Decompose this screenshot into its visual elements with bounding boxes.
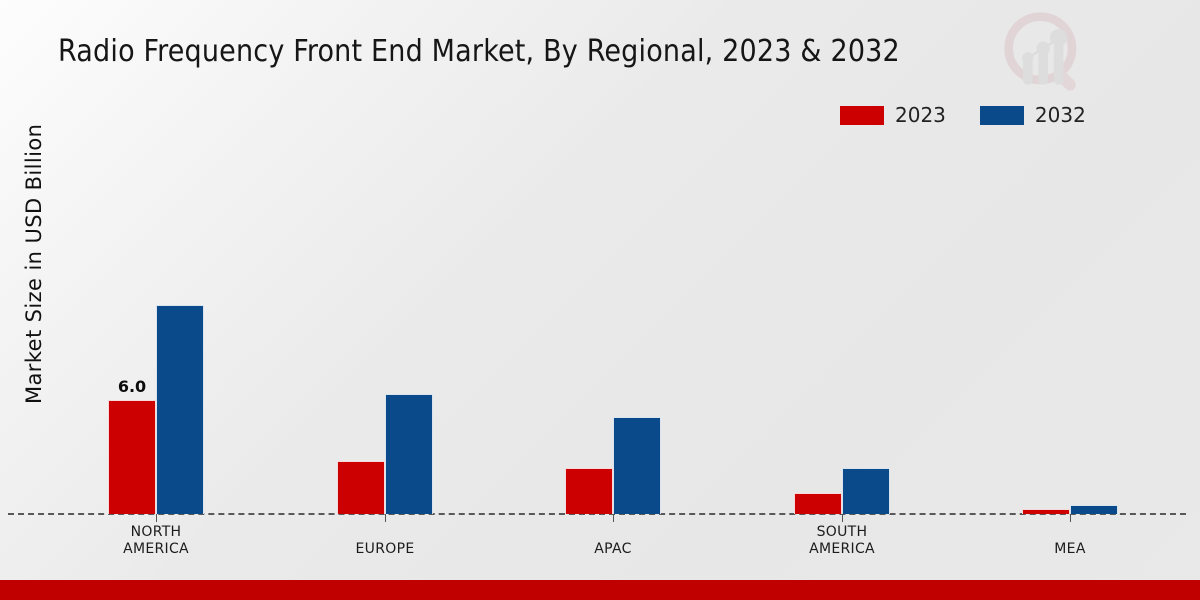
chart-page: Radio Frequency Front End Market, By Reg… [0, 0, 1200, 600]
x-label-europe: EUROPE [310, 541, 460, 558]
bar-europe-2023[interactable] [337, 461, 385, 514]
x-tick-apac [613, 514, 614, 522]
bar-europe-2032[interactable] [385, 394, 433, 514]
bar-apac-2032[interactable] [613, 417, 661, 514]
x-tick-south-america [842, 514, 843, 522]
bar-mea-2023[interactable] [1022, 509, 1070, 514]
bar-south-america-2023[interactable] [794, 493, 842, 514]
bar-north-america-2023[interactable] [108, 400, 156, 514]
x-label-north-america: NORTHAMERICA [81, 524, 231, 558]
footer-accent-bar [0, 580, 1200, 600]
plot-area: 6.0 NORTHAMERICA EUROPE APAC SOUTHAMERIC… [0, 0, 1200, 600]
x-tick-mea [1070, 514, 1071, 522]
bar-value-north-america-2023: 6.0 [118, 377, 146, 396]
x-label-apac: APAC [538, 541, 688, 558]
bar-north-america-2032[interactable] [156, 305, 204, 514]
x-label-south-america: SOUTHAMERICA [767, 524, 917, 558]
bar-apac-2023[interactable] [565, 468, 613, 514]
x-tick-north-america [156, 514, 157, 522]
bar-mea-2032[interactable] [1070, 505, 1118, 514]
bar-south-america-2032[interactable] [842, 468, 890, 514]
x-tick-europe [385, 514, 386, 522]
x-label-mea: MEA [995, 541, 1145, 558]
